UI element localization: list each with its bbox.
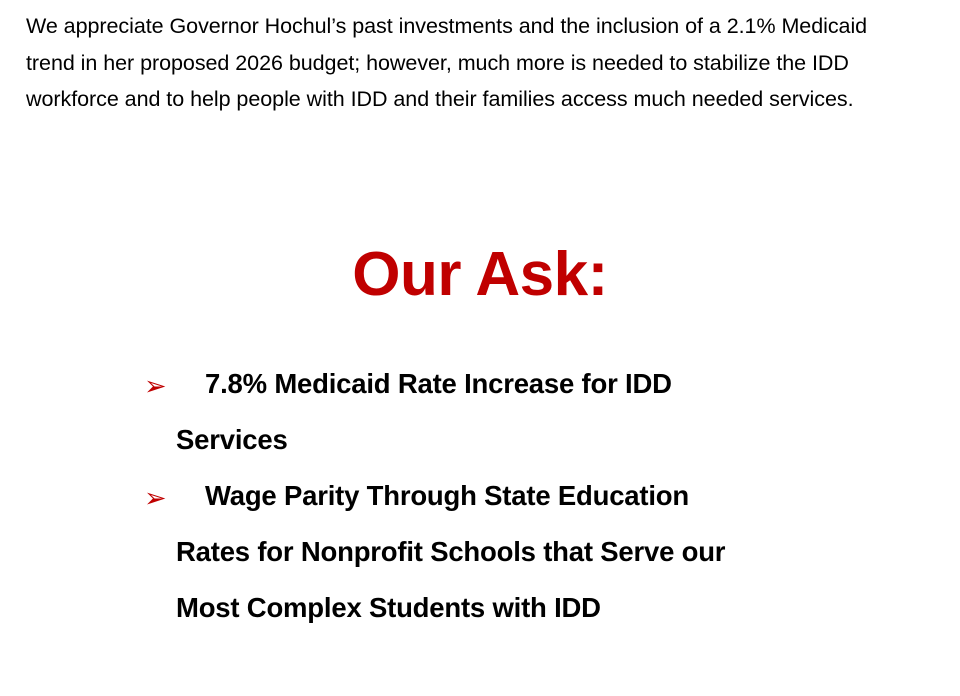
red-arrow-bullet-icon: ➢ bbox=[144, 471, 176, 527]
list-item-line: Most Complex Students with IDD bbox=[176, 580, 920, 636]
list-item: ➢ 7.8% Medicaid Rate Increase for IDD Se… bbox=[0, 356, 960, 468]
list-item-text: 7.8% Medicaid Rate Increase for IDD Serv… bbox=[176, 356, 920, 468]
intro-text-block: We appreciate Governor Hochul’s past inv… bbox=[26, 8, 916, 118]
list-item-line: 7.8% Medicaid Rate Increase for IDD bbox=[176, 356, 920, 412]
list-item: ➢ Wage Parity Through State Education Ra… bbox=[0, 468, 960, 636]
page-title: Our Ask: bbox=[352, 238, 608, 312]
intro-paragraph: We appreciate Governor Hochul’s past inv… bbox=[26, 8, 916, 118]
slide-canvas: We appreciate Governor Hochul’s past inv… bbox=[0, 0, 960, 696]
heading-block: Our Ask: bbox=[0, 238, 960, 312]
list-item-text: Wage Parity Through State Education Rate… bbox=[176, 468, 920, 636]
list-item-line: Rates for Nonprofit Schools that Serve o… bbox=[176, 524, 920, 580]
ask-list: ➢ 7.8% Medicaid Rate Increase for IDD Se… bbox=[0, 356, 960, 636]
list-item-line: Services bbox=[176, 412, 920, 468]
red-arrow-bullet-icon: ➢ bbox=[144, 359, 176, 415]
list-item-line: Wage Parity Through State Education bbox=[176, 468, 920, 524]
